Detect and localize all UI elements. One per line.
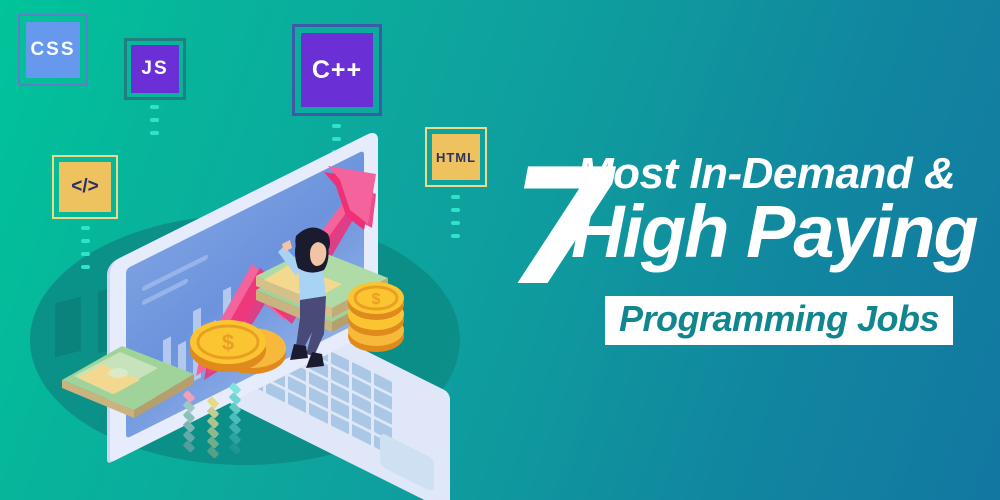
badge-label-code: </> (71, 176, 98, 198)
pixel-column-cyan (228, 384, 242, 453)
laptop-illustration: $ $ (0, 0, 520, 500)
badge-label-cpp: C++ (312, 56, 362, 85)
svg-text:$: $ (372, 291, 381, 308)
badge-label-js: JS (141, 58, 168, 80)
svg-text:$: $ (222, 330, 234, 355)
banner-root: CSS JS C++ HTML </> (0, 0, 1000, 500)
laptop-trackpad (380, 432, 434, 493)
headline-line-3-highlight: Programming Jobs (605, 296, 953, 345)
woman-figure (278, 222, 348, 372)
pixel-column-yellow (206, 398, 220, 457)
money-bundle (62, 340, 194, 418)
headline-line-2: High Paying (571, 195, 977, 269)
coin-stack-secondary: $ (338, 278, 418, 358)
pixel-column-pink (182, 392, 196, 451)
badge-label-css: CSS (30, 39, 75, 61)
headline-line-3: Programming Jobs (619, 298, 939, 339)
badge-label-html: HTML (436, 150, 476, 165)
